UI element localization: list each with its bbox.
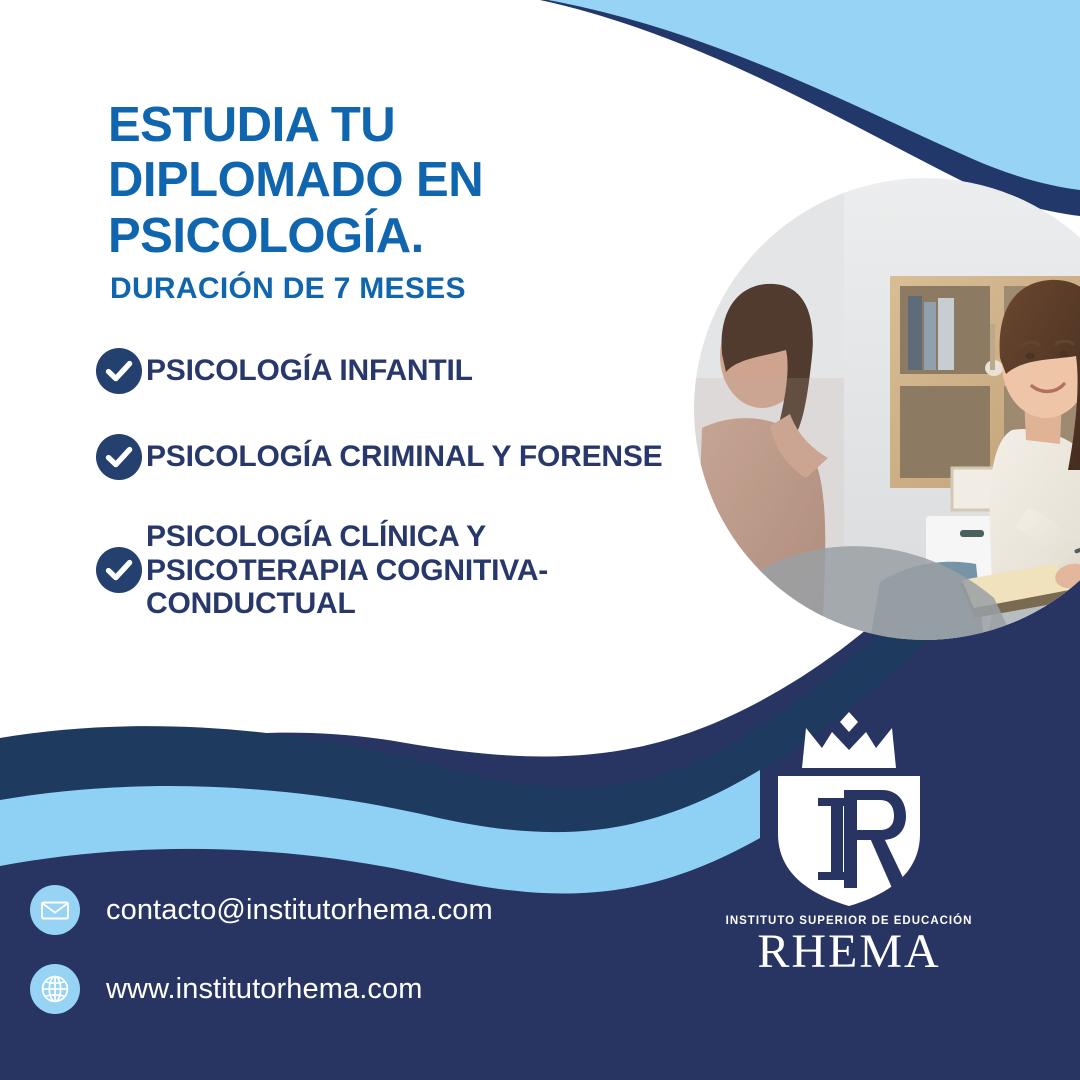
list-item: PSICOLOGÍA INFANTIL [96, 348, 696, 394]
rhema-logo: INSTITUTO SUPERIOR DE EDUCACIÓN RHEMA [724, 706, 974, 976]
program-list: PSICOLOGÍA INFANTIL PSICOLOGÍA CRIMINAL … [96, 348, 696, 621]
globe-icon [30, 964, 80, 1014]
website-url: www.institutorhema.com [106, 973, 422, 1006]
contact-info: contacto@institutorhema.com www.institut… [30, 885, 493, 1014]
flyer-content: ESTUDIA TU DIPLOMADO EN PSICOLOGÍA. DURA… [0, 0, 1080, 1080]
check-circle-icon [96, 434, 142, 480]
logo-wordmark: RHEMA [724, 928, 974, 976]
check-circle-icon [96, 348, 142, 394]
contact-email[interactable]: contacto@institutorhema.com [30, 885, 493, 935]
list-item-label: PSICOLOGÍA INFANTIL [146, 354, 473, 388]
envelope-icon [30, 885, 80, 935]
duration-subtitle: DURACIÓN DE 7 MESES [110, 272, 466, 306]
email-address: contacto@institutorhema.com [106, 894, 493, 927]
list-item: PSICOLOGÍA CRIMINAL Y FORENSE [96, 434, 696, 480]
shield-icon [744, 706, 954, 911]
check-circle-icon [96, 547, 142, 593]
list-item-label: PSICOLOGÍA CRIMINAL Y FORENSE [146, 440, 663, 474]
crown-icon [802, 712, 896, 768]
list-item-label: PSICOLOGÍA CLÍNICA Y PSICOTERAPIA COGNIT… [146, 520, 696, 621]
page-title: ESTUDIA TU DIPLOMADO EN PSICOLOGÍA. [108, 98, 668, 264]
promotional-flyer: ESTUDIA TU DIPLOMADO EN PSICOLOGÍA. DURA… [0, 0, 1080, 1080]
list-item: PSICOLOGÍA CLÍNICA Y PSICOTERAPIA COGNIT… [96, 520, 696, 621]
contact-website[interactable]: www.institutorhema.com [30, 964, 493, 1014]
